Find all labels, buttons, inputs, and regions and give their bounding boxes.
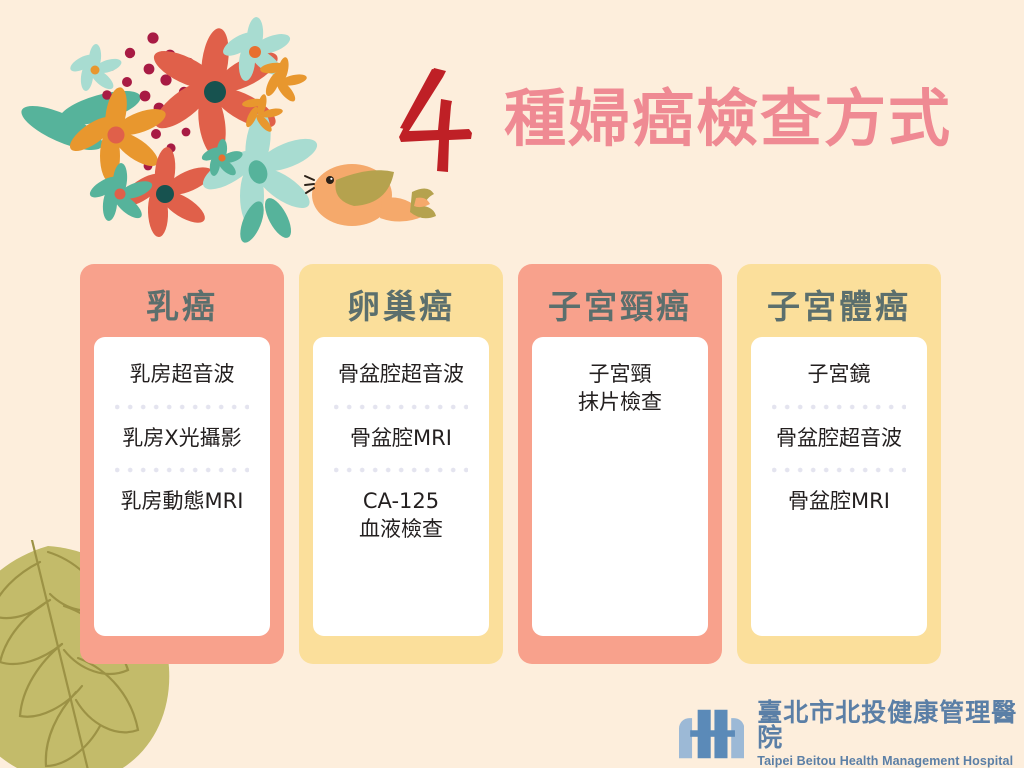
card-title: 子宮體癌	[767, 290, 911, 323]
logo-text-block: 臺北市北投健康管理醫院 Taipei Beitou Health Managem…	[757, 700, 1024, 768]
dotted-separator	[334, 404, 468, 410]
card-uterine-cancer[interactable]: 子宮體癌 子宮鏡 骨盆腔超音波 骨盆腔MRI	[737, 264, 941, 664]
card-title: 子宮頸癌	[548, 290, 692, 323]
card-item-list: 乳房超音波 乳房X光攝影 乳房動態MRI	[94, 337, 270, 636]
card-ovarian-cancer[interactable]: 卵巢癌 骨盆腔超音波 骨盆腔MRI CA-125 血液檢查	[299, 264, 503, 664]
card-breast-cancer[interactable]: 乳癌 乳房超音波 乳房X光攝影 乳房動態MRI	[80, 264, 284, 664]
list-item: 骨盆腔MRI	[350, 425, 452, 453]
page-title-text: 種婦癌檢查方式	[504, 88, 952, 150]
list-item: 骨盆腔超音波	[338, 361, 464, 389]
card-item-list: 子宮鏡 骨盆腔超音波 骨盆腔MRI	[751, 337, 927, 636]
list-item: CA-125 血液檢查	[359, 488, 443, 543]
list-item: 乳房超音波	[130, 361, 235, 389]
card-title: 乳癌	[146, 290, 218, 323]
list-item: 子宮鏡	[808, 361, 871, 389]
dotted-separator	[334, 467, 468, 473]
brush-stroke-four-icon	[398, 66, 490, 172]
card-item-list: 子宮頸 抹片檢查	[532, 337, 708, 636]
dotted-separator	[772, 467, 906, 473]
cards-row: 乳癌 乳房超音波 乳房X光攝影 乳房動態MRI 卵巢癌 骨盆腔超音波 骨盆腔MR…	[80, 264, 956, 664]
list-item: 骨盆腔超音波	[776, 425, 902, 453]
hospital-building-logo-icon	[679, 708, 744, 760]
list-item: 乳房X光攝影	[122, 425, 241, 453]
card-title: 卵巢癌	[347, 290, 455, 323]
list-item: 骨盆腔MRI	[788, 488, 890, 516]
dotted-separator	[115, 404, 249, 410]
card-item-list: 骨盆腔超音波 骨盆腔MRI CA-125 血液檢查	[313, 337, 489, 636]
page-title: 種婦癌檢查方式	[398, 66, 952, 172]
dotted-separator	[772, 404, 906, 410]
list-item: 子宮頸 抹片檢查	[578, 361, 662, 416]
floral-cluster-illustration	[0, 0, 440, 260]
hospital-name-en: Taipei Beitou Health Management Hospital	[757, 755, 1024, 768]
dotted-separator	[115, 467, 249, 473]
hospital-logo: 臺北市北投健康管理醫院 Taipei Beitou Health Managem…	[679, 700, 1024, 768]
poster-canvas: 種婦癌檢查方式 乳癌 乳房超音波 乳房X光攝影 乳房動態MRI 卵巢癌 骨盆腔超…	[0, 0, 1024, 768]
hospital-name-zh: 臺北市北投健康管理醫院	[757, 700, 1024, 750]
bird-illustration	[305, 164, 436, 226]
card-cervical-cancer[interactable]: 子宮頸癌 子宮頸 抹片檢查	[518, 264, 722, 664]
list-item: 乳房動態MRI	[121, 488, 244, 516]
